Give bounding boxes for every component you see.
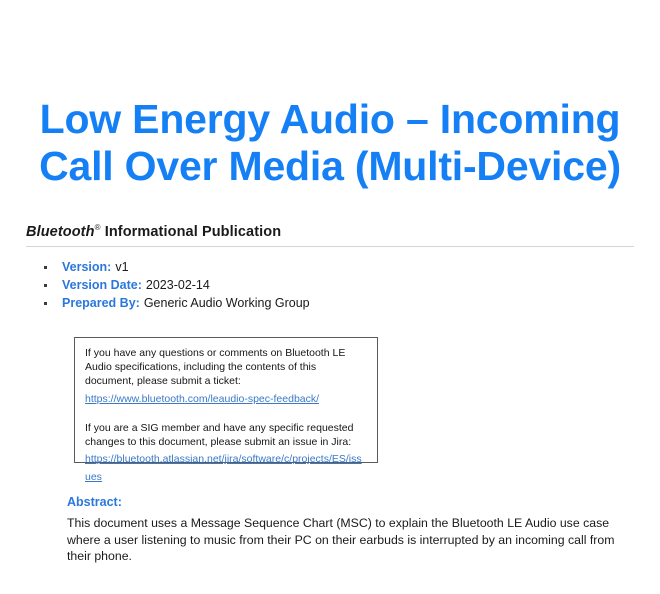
meta-label-version-date: Version Date:	[62, 276, 142, 294]
bullet-icon	[44, 258, 62, 276]
jira-issues-link[interactable]: https://bluetooth.atlassian.net/jira/sof…	[85, 453, 362, 483]
abstract-heading: Abstract:	[67, 495, 122, 509]
callout-paragraph-ticket: If you have any questions or comments on…	[85, 346, 367, 389]
subtitle-text: Informational Publication	[101, 224, 282, 240]
list-item: Prepared By: Generic Audio Working Group	[44, 294, 484, 312]
meta-label-prepared-by: Prepared By:	[62, 294, 140, 312]
document-subtitle: Bluetooth® Informational Publication	[26, 224, 281, 240]
callout-paragraph-jira: If you are a SIG member and have any spe…	[85, 421, 367, 449]
meta-label-version: Version:	[62, 258, 111, 276]
feedback-link[interactable]: https://www.bluetooth.com/leaudio-spec-f…	[85, 393, 319, 405]
bullet-icon	[44, 276, 62, 294]
bluetooth-wordmark: Bluetooth	[26, 224, 95, 240]
feedback-callout-box: If you have any questions or comments on…	[74, 337, 378, 463]
list-item: Version: v1	[44, 258, 484, 276]
document-page: Low Energy Audio – Incoming Call Over Me…	[0, 0, 660, 594]
meta-value-version: v1	[115, 258, 128, 276]
bullet-icon	[44, 294, 62, 312]
meta-value-prepared-by: Generic Audio Working Group	[144, 294, 310, 312]
meta-value-version-date: 2023-02-14	[146, 276, 210, 294]
abstract-body: This document uses a Message Sequence Ch…	[67, 515, 620, 565]
document-metadata-list: Version: v1 Version Date: 2023-02-14 Pre…	[44, 258, 484, 312]
list-item: Version Date: 2023-02-14	[44, 276, 484, 294]
callout-spacer	[85, 407, 367, 421]
page-title: Low Energy Audio – Incoming Call Over Me…	[24, 96, 636, 190]
header-divider	[26, 246, 634, 247]
